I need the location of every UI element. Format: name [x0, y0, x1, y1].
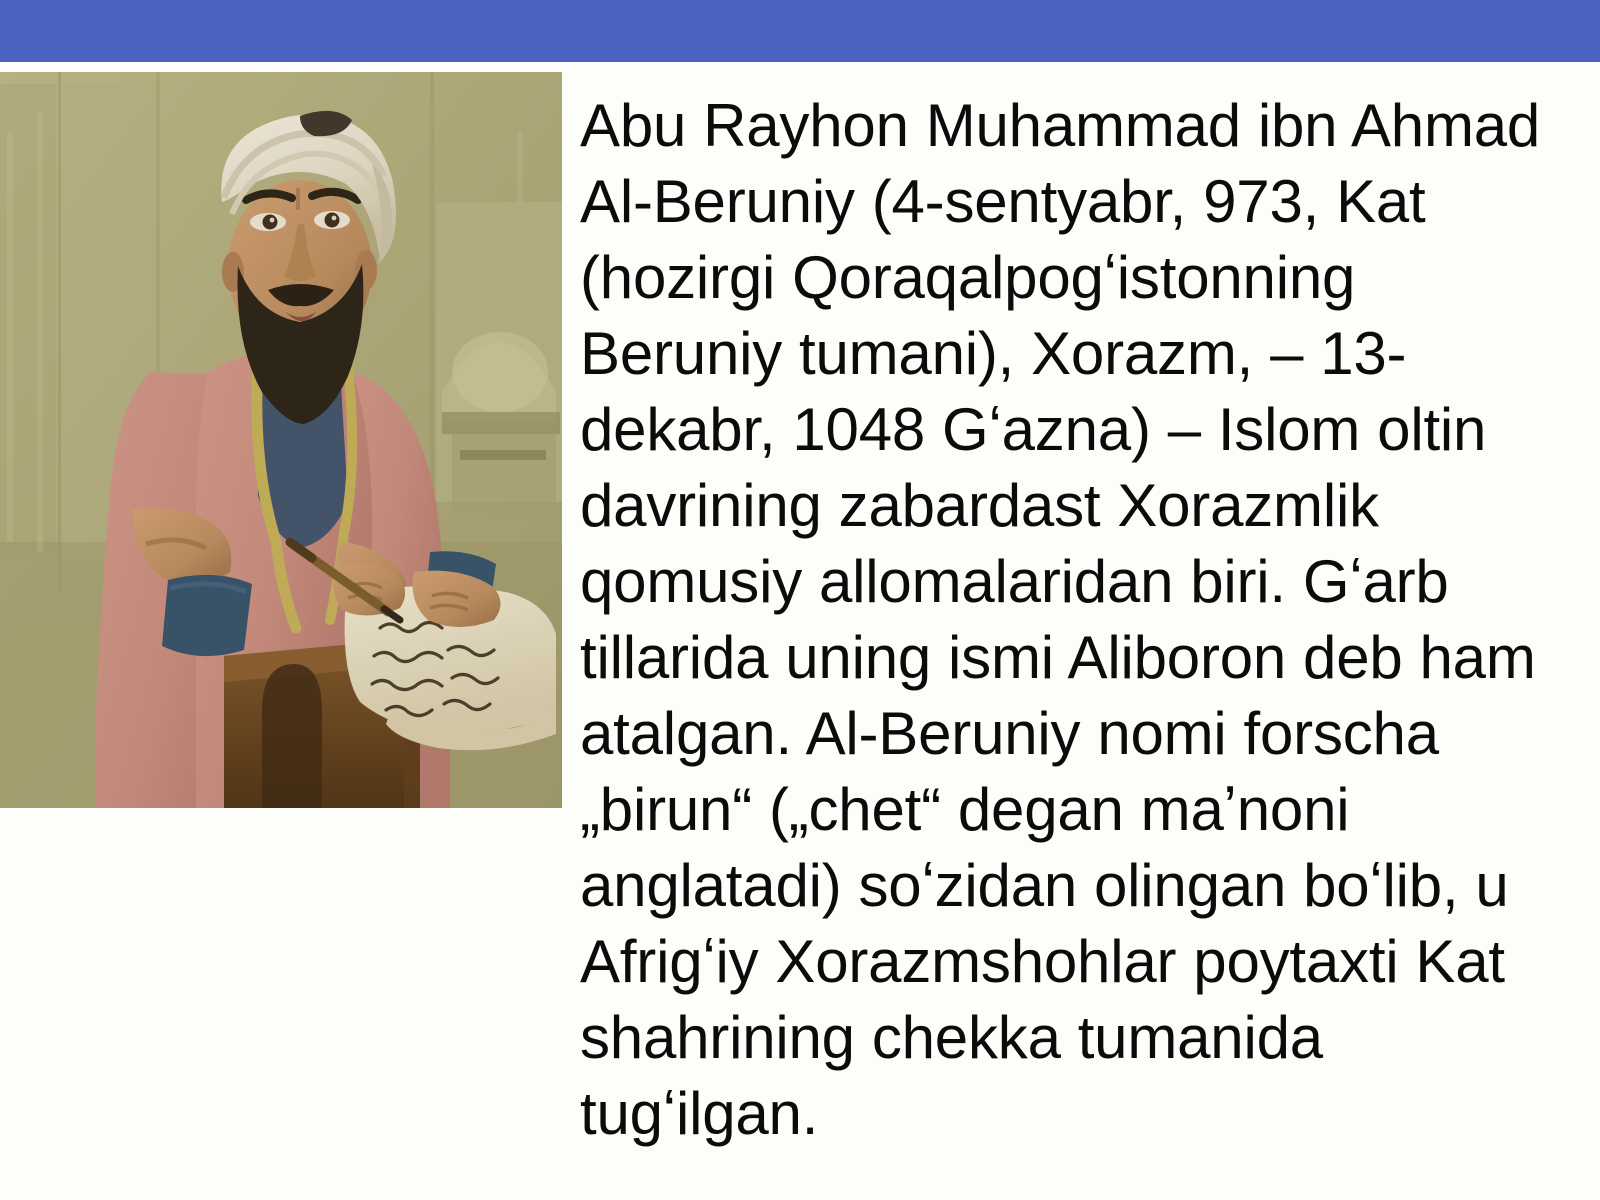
biography-paragraph: Abu Rayhon Muhammad ibn Ahmad Al-Beruniy…	[580, 88, 1552, 1152]
portrait-image	[0, 72, 562, 808]
top-decorative-band	[0, 0, 1600, 62]
slide-canvas: Abu Rayhon Muhammad ibn Ahmad Al-Beruniy…	[0, 0, 1600, 1200]
portrait-illustration	[0, 72, 562, 808]
